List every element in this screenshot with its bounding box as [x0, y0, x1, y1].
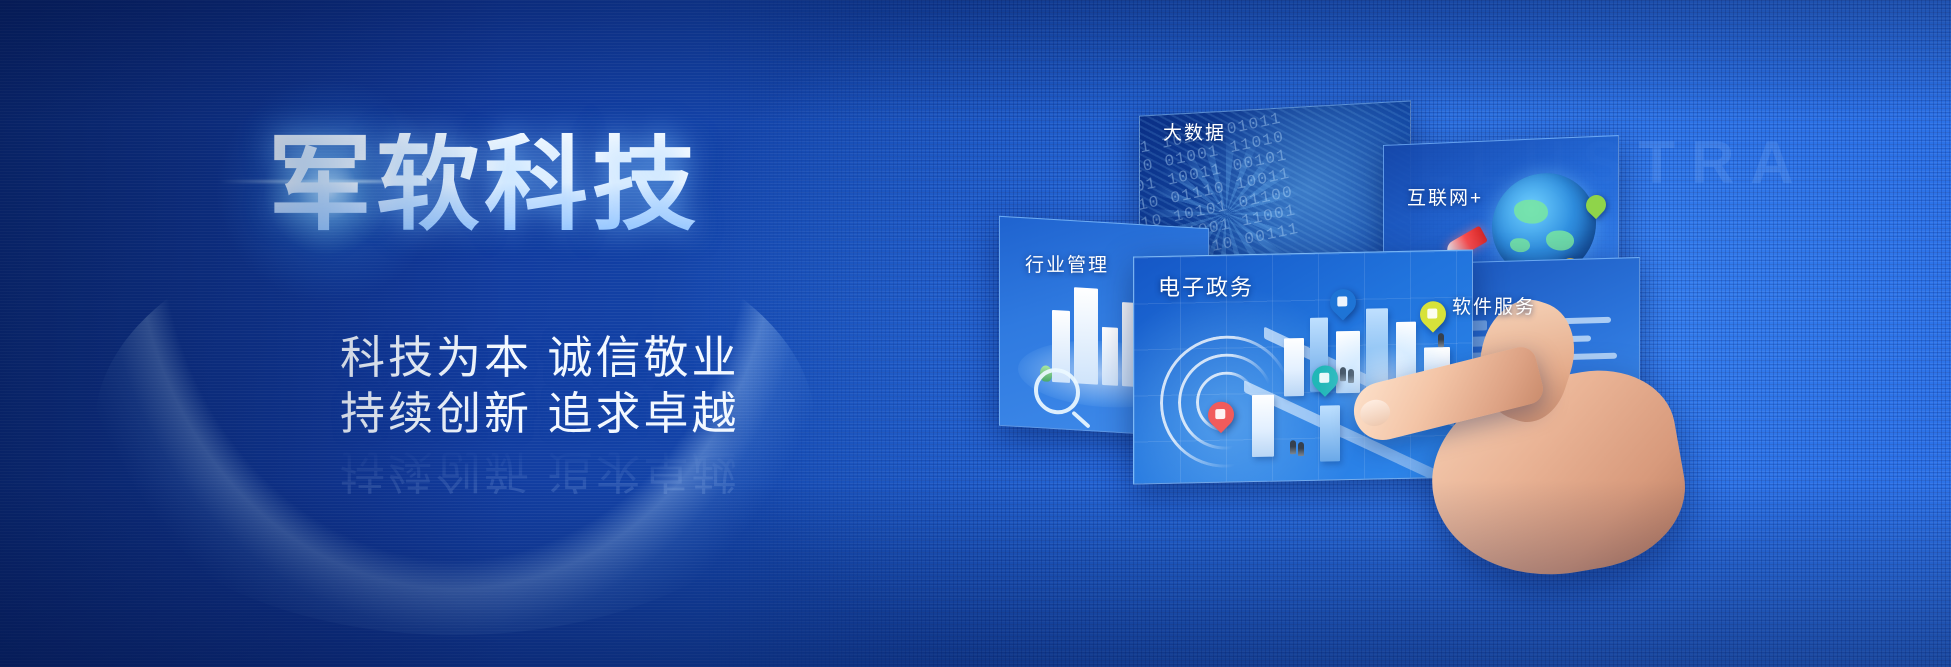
isometric-building: [1424, 347, 1450, 396]
building-shape: [1102, 327, 1118, 386]
person-figure: [1340, 367, 1346, 381]
document-line: [1499, 335, 1591, 344]
person-figure: [1348, 369, 1354, 383]
isometric-building: [1366, 308, 1388, 390]
isometric-building: [1336, 331, 1360, 394]
continent-shape: [1514, 199, 1548, 224]
isometric-building: [1284, 338, 1304, 396]
isometric-building: [1252, 395, 1274, 457]
card-label-software: 软件服务: [1452, 292, 1536, 319]
isometric-building: [1320, 405, 1340, 461]
person-figure: [1438, 333, 1444, 347]
hero-banner: ILLUSTRA 军软科技 军软科技 科技为本 诚信敬业 持续创新 追求卓越 持…: [0, 0, 1951, 667]
isometric-building: [1396, 322, 1416, 388]
card-label-internet: 互联网+: [1407, 183, 1483, 210]
continent-shape: [1546, 230, 1574, 251]
continent-shape: [1510, 238, 1530, 253]
card-label-industry: 行业管理: [1025, 250, 1109, 277]
card-label-bigdata: 大数据: [1163, 118, 1226, 145]
subtitle-reflection: 持续创新 追求卓越: [340, 443, 740, 499]
document-line: [1453, 377, 1603, 387]
person-figure: [1378, 424, 1384, 438]
person-figure: [1290, 440, 1296, 454]
page-title: 军软科技: [268, 133, 700, 237]
card-label-egov: 电子政务: [1158, 270, 1254, 302]
person-figure: [1298, 442, 1304, 456]
subtitle-line-1: 科技为本 诚信敬业: [340, 330, 740, 386]
subtitle-group: 科技为本 诚信敬业 持续创新 追求卓越: [340, 330, 740, 442]
building-shape: [1074, 287, 1098, 384]
vignette-overlay: [0, 0, 1951, 667]
scanline-texture: [0, 0, 1951, 667]
subtitle-line-2: 持续创新 追求卓越: [340, 386, 740, 442]
document-line: [1499, 353, 1617, 362]
